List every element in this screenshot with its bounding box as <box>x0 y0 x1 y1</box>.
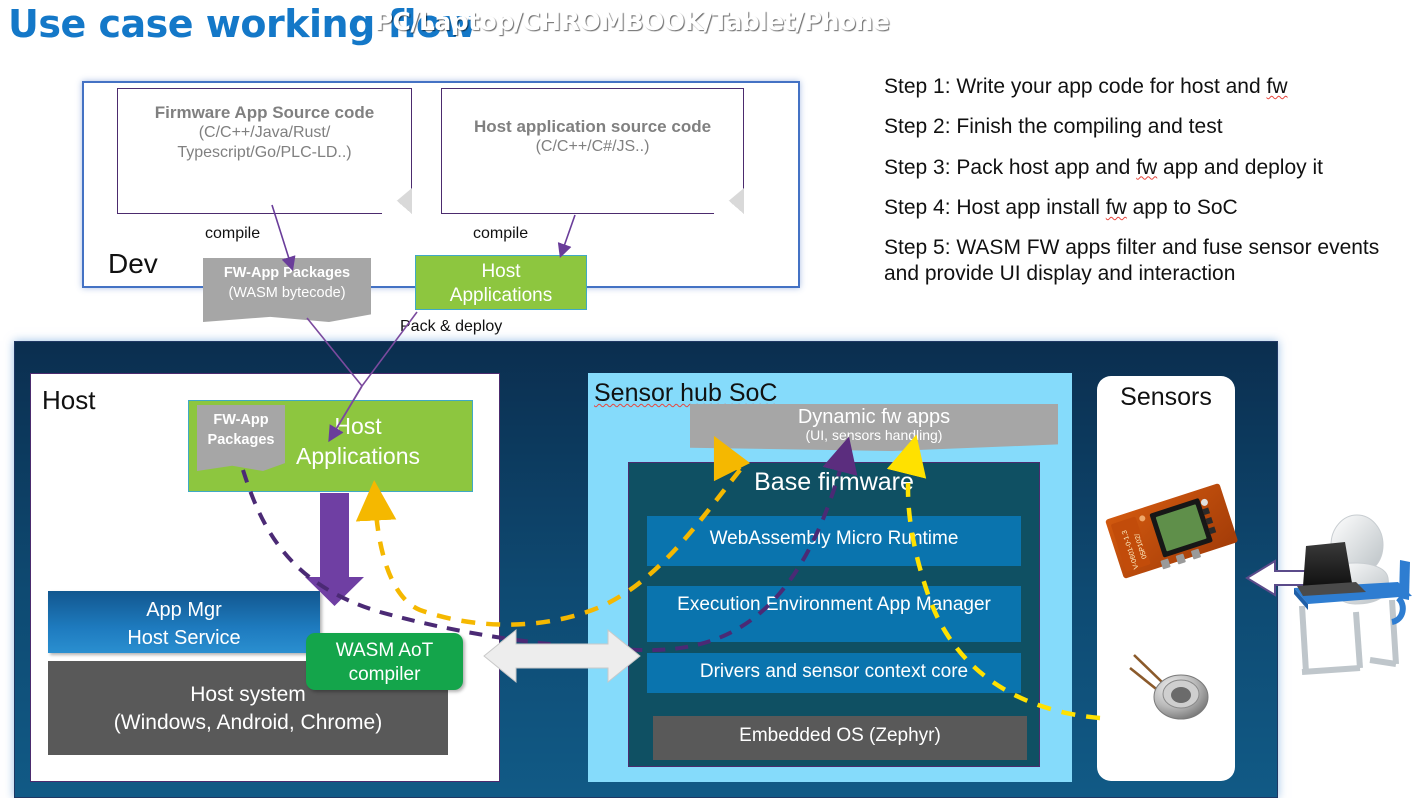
host-source-card: Host application source code (C/C++/C#/J… <box>441 88 744 214</box>
host-section-label: Host <box>42 385 95 416</box>
firmware-source-card: Firmware App Source code (C/C++/Java/Rus… <box>117 88 412 214</box>
compile-label-firmware: compile <box>205 225 260 243</box>
step-item-4: Step 4: Host app install fw app to SoC <box>884 195 1404 221</box>
dynamic-fw-apps-box: Dynamic fw apps (UI, sensors handling) <box>690 404 1058 451</box>
dev-fw-package-line2: (WASM bytecode) <box>203 284 371 304</box>
pack-deploy-label: Pack & deploy <box>400 318 502 336</box>
app-mgr-line2: Host Service <box>48 624 320 652</box>
host-source-title: Host application source code <box>442 117 743 137</box>
app-mgr-box: App Mgr Host Service <box>48 591 320 653</box>
person-at-laptop-icon <box>1294 515 1412 672</box>
bus-label: BUS <box>500 645 620 671</box>
firmware-source-title: Firmware App Source code <box>118 103 411 123</box>
host-fw-package-line1: FW-App <box>197 411 285 431</box>
compile-label-host: compile <box>473 225 528 243</box>
fw-row-wamr: WebAssembly Micro Runtime <box>647 516 1021 566</box>
host-fw-package-line2: Packages <box>197 431 285 451</box>
firmware-source-sub1: (C/C++/Java/Rust/ <box>118 123 411 143</box>
steps-list: Step 1: Write your app code for host and… <box>884 74 1404 302</box>
slide-root: Use case working flow Firmware App Sourc… <box>0 0 1414 798</box>
step-item-3: Step 3: Pack host app and fw app and dep… <box>884 155 1404 181</box>
firmware-source-sub2: Typescript/Go/PLC-LD..) <box>118 143 411 163</box>
dev-label: Dev <box>108 248 158 280</box>
wasm-aot-line2: compiler <box>306 663 463 687</box>
step-item-2: Step 2: Finish the compiling and test <box>884 114 1404 140</box>
sensor-hub-soc-label: Sensor hub SoC <box>594 379 777 408</box>
dev-host-app-line2: Applications <box>416 284 586 308</box>
fw-row-exec-env-app-manager: Execution Environment App Manager <box>647 586 1021 642</box>
sensors-label: Sensors <box>1097 383 1235 412</box>
dynamic-fw-apps-line1: Dynamic fw apps <box>690 404 1058 428</box>
app-mgr-line1: App Mgr <box>48 596 320 624</box>
fw-row-drivers: Drivers and sensor context core <box>647 653 1021 693</box>
page-fold-icon <box>713 188 744 214</box>
dev-fw-package-line1: FW-App Packages <box>203 264 371 284</box>
wasm-aot-compiler-box: WASM AoT compiler <box>306 633 463 690</box>
dynamic-fw-apps-line2: (UI, sensors handling) <box>690 428 1058 443</box>
fw-row-embedded-os: Embedded OS (Zephyr) <box>653 716 1027 760</box>
dev-host-applications-box: Host Applications <box>415 255 587 310</box>
page-fold-icon <box>381 188 412 214</box>
dev-host-app-line1: Host <box>416 260 586 284</box>
step-item-5: Step 5: WASM FW apps filter and fuse sen… <box>884 235 1404 288</box>
dev-fw-app-package: FW-App Packages (WASM bytecode) <box>203 258 371 322</box>
device-panel-title: PC/Laptop/CHROMBOOK/Tablet/Phone <box>0 7 1264 36</box>
step-item-1: Step 1: Write your app code for host and… <box>884 74 1404 100</box>
host-system-line2: (Windows, Android, Chrome) <box>48 709 448 737</box>
sensors-card <box>1097 376 1235 781</box>
base-firmware-title: Base firmware <box>628 468 1040 497</box>
host-source-sub1: (C/C++/C#/JS..) <box>442 137 743 157</box>
host-fw-app-package: FW-App Packages <box>197 405 285 471</box>
wasm-aot-line1: WASM AoT <box>306 639 463 663</box>
